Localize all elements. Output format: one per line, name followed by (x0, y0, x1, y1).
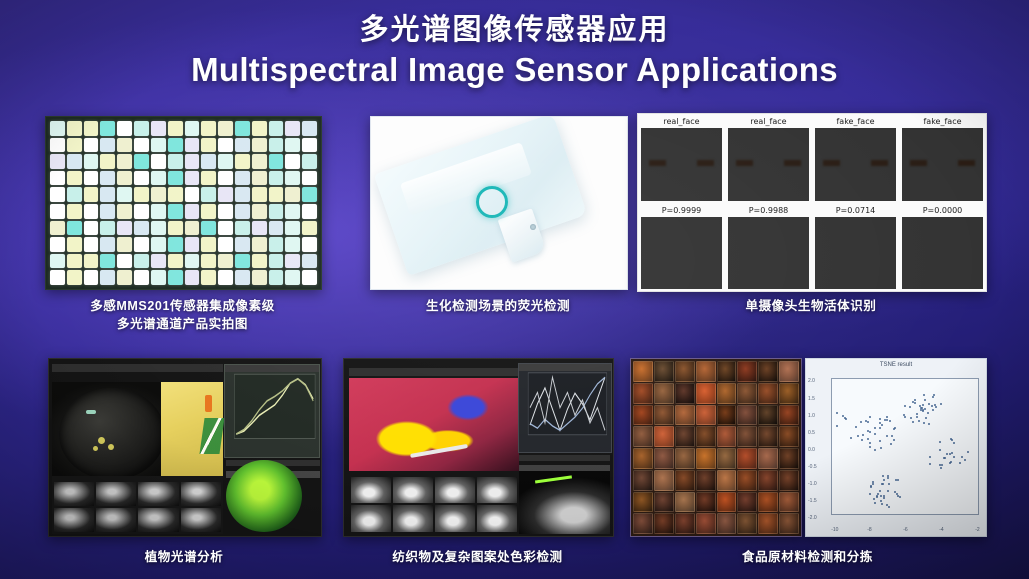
filter-cell (134, 171, 149, 186)
y-axis-tick: 0.5 (808, 430, 815, 436)
scatter-point (882, 475, 884, 477)
caption-line-1: 生化检测场景的荧光检测 (370, 297, 626, 315)
filter-cell (235, 254, 250, 269)
spectrograph-chart-textile (518, 363, 611, 454)
filter-cell (201, 154, 216, 169)
filter-cell (50, 221, 65, 236)
filter-cell (185, 254, 200, 269)
filter-cell (185, 221, 200, 236)
scatter-point (874, 427, 876, 429)
y-axis-tick: -1.0 (808, 481, 817, 487)
filter-cell (302, 138, 317, 153)
x-axis-tick: -2 (975, 527, 979, 533)
food-sample-cell (758, 492, 778, 513)
filter-cell (84, 187, 99, 202)
sample-dish (59, 388, 165, 479)
filter-cell (218, 187, 233, 202)
filter-cell (168, 270, 183, 285)
filter-cell (100, 121, 115, 136)
scatter-point (932, 409, 934, 411)
caption-line-1: 食品原材料检测和分拣 (630, 548, 985, 566)
food-sample-cell (654, 405, 674, 426)
panel-face-liveness: real_face real_face fake_face fake_face … (637, 113, 987, 292)
band-thumbnail[interactable] (477, 477, 517, 504)
scatter-point (967, 451, 969, 453)
food-sample-cell (717, 383, 737, 404)
spectrograph-chart-plant (224, 364, 320, 458)
caption-line-1: 多感MMS201传感器集成像素级 (45, 297, 320, 315)
scatter-point (950, 461, 952, 463)
food-sample-cell (633, 383, 653, 404)
filter-cell (84, 237, 99, 252)
seed (93, 446, 98, 451)
filter-cell (151, 121, 166, 136)
scatter-point (886, 504, 888, 506)
scatter-point (865, 420, 867, 422)
filter-cell (285, 187, 300, 202)
filter-cell (67, 254, 82, 269)
filter-cell (285, 254, 300, 269)
filter-cell (151, 270, 166, 285)
food-sample-cell (717, 361, 737, 382)
food-sample-cell (654, 448, 674, 469)
spectrograph-svg (225, 365, 319, 457)
filter-cell (84, 204, 99, 219)
scatter-point (869, 416, 871, 418)
food-sample-cell (675, 405, 695, 426)
filter-cell (252, 221, 267, 236)
scatter-point (914, 399, 916, 401)
toolbar[interactable] (52, 364, 223, 372)
food-sample-cell (779, 426, 799, 447)
filter-cell (218, 204, 233, 219)
filter-cell (117, 121, 132, 136)
scatter-point (924, 408, 926, 410)
filter-cell (201, 121, 216, 136)
scatter-point (879, 418, 881, 420)
filter-cell (134, 121, 149, 136)
scatter-point (939, 449, 941, 451)
filter-cell (100, 254, 115, 269)
filter-cell (235, 121, 250, 136)
band-thumbnail-strip (349, 471, 518, 535)
band-thumbnail[interactable] (54, 508, 94, 532)
filter-cell (235, 237, 250, 252)
filter-cell (269, 154, 284, 169)
filter-cell (302, 221, 317, 236)
probability-label: P=0.9988 (749, 205, 789, 217)
scatter-point (880, 500, 882, 502)
band-thumbnail[interactable] (393, 505, 433, 532)
panel-filter-array (45, 116, 322, 290)
filter-cell (201, 270, 216, 285)
band-thumbnail[interactable] (138, 508, 178, 532)
scatter-point (944, 457, 946, 459)
filter-cell (235, 221, 250, 236)
band-thumbnail[interactable] (181, 508, 221, 532)
filter-cell (252, 237, 267, 252)
heatmap-cell: P=0.9988 (725, 203, 812, 292)
food-sample-cell (633, 513, 653, 534)
band-thumbnail[interactable] (351, 477, 391, 504)
filter-cell (302, 270, 317, 285)
scatter-point (939, 441, 941, 443)
face-label: fake_face (923, 116, 961, 128)
scatter-point (910, 417, 912, 419)
scatter-point (897, 479, 899, 481)
scatter-point (883, 479, 885, 481)
filter-array-grid (50, 121, 317, 285)
x-axis-tick: -8 (867, 527, 871, 533)
filter-cell (134, 254, 149, 269)
filter-cell (235, 187, 250, 202)
filter-cell (185, 270, 200, 285)
page-title-en: Multispectral Image Sensor Applications (0, 50, 1029, 90)
filter-cell (67, 270, 82, 285)
food-sample-cell (779, 470, 799, 491)
filter-cell (168, 138, 183, 153)
toolbar[interactable] (349, 368, 518, 376)
filter-cell (218, 171, 233, 186)
fluorescence-marker-icon (476, 186, 508, 218)
food-sample-cell (696, 383, 716, 404)
y-axis-tick: 0.0 (808, 447, 815, 453)
y-axis-tick: -0.5 (808, 464, 817, 470)
scatter-point (914, 402, 916, 404)
food-sample-cell (737, 426, 757, 447)
spectrograph-plot (519, 364, 610, 453)
filter-cell (235, 270, 250, 285)
scatter-point (886, 435, 888, 437)
scatter-point (869, 446, 871, 448)
filter-cell (185, 138, 200, 153)
filter-cell (67, 121, 82, 136)
filter-cell (50, 237, 65, 252)
scatter-point (929, 456, 931, 458)
food-sample-cell (633, 492, 653, 513)
face-row-heatmap: P=0.9999 P=0.9988 P=0.0714 P=0.0000 (638, 203, 986, 292)
face-label: real_face (663, 116, 699, 128)
y-axis-tick: -1.5 (808, 498, 817, 504)
food-sample-cell (696, 361, 716, 382)
band-thumbnail[interactable] (96, 508, 136, 532)
scatter-point (935, 406, 937, 408)
filter-cell (50, 204, 65, 219)
food-sample-cell (737, 513, 757, 534)
scatter-point (899, 496, 901, 498)
panel-food-scatter: TSNE result -10-8-6-4-2-2.0-1.5-1.0-0.50… (805, 358, 987, 537)
filter-cell (218, 254, 233, 269)
food-sample-cell (654, 513, 674, 534)
filter-cell (134, 204, 149, 219)
food-sample-cell (779, 361, 799, 382)
food-sample-cell (675, 383, 695, 404)
filter-cell (117, 237, 132, 252)
filter-cell (117, 154, 132, 169)
filter-cell (285, 270, 300, 285)
scatter-point (862, 434, 864, 436)
band-thumbnail[interactable] (435, 477, 475, 504)
food-sample-cell (675, 513, 695, 534)
scatter-point (924, 399, 926, 401)
filter-cell (252, 187, 267, 202)
filter-cell (84, 270, 99, 285)
scatter-point (889, 420, 891, 422)
heatmap-cell: P=0.0000 (899, 203, 986, 292)
scatter-point (920, 409, 922, 411)
filter-cell (151, 154, 166, 169)
filter-cell (252, 254, 267, 269)
food-sample-cell (779, 448, 799, 469)
band-thumbnail[interactable] (54, 482, 94, 506)
filter-cell (84, 154, 99, 169)
eye-band (823, 160, 888, 167)
filter-cell (185, 154, 200, 169)
face-label: fake_face (836, 116, 874, 128)
food-sample-cell (758, 405, 778, 426)
scatter-point (951, 452, 953, 454)
caption-line-1: 单摄像头生物活体识别 (637, 297, 985, 315)
filter-cell (168, 171, 183, 186)
band-thumbnail[interactable] (138, 482, 178, 506)
face-image (902, 128, 983, 201)
filter-cell (302, 121, 317, 136)
face-cell: real_face (638, 114, 725, 203)
filter-cell (168, 121, 183, 136)
face-row-original: real_face real_face fake_face fake_face (638, 114, 986, 203)
scatter-point (912, 421, 914, 423)
face-cell: real_face (725, 114, 812, 203)
filter-cell (269, 204, 284, 219)
filter-cell (67, 154, 82, 169)
probability-label: P=0.0714 (836, 205, 876, 217)
food-sample-cell (654, 492, 674, 513)
scatter-point (869, 493, 871, 495)
filter-cell (269, 138, 284, 153)
scatter-point (888, 483, 890, 485)
face-cell: fake_face (812, 114, 899, 203)
heatmap-image (815, 217, 896, 290)
filter-cell (235, 171, 250, 186)
food-sample-cell (633, 448, 653, 469)
caption-filter-array: 多感MMS201传感器集成像素级 多光谱通道产品实拍图 (45, 297, 320, 333)
filter-cell (201, 221, 216, 236)
scatter-point (887, 477, 889, 479)
food-sample-cell (717, 448, 737, 469)
filter-cell (302, 171, 317, 186)
food-sample-cell (654, 470, 674, 491)
food-sample-cell (696, 470, 716, 491)
filter-cell (285, 171, 300, 186)
heatmap-image (902, 217, 983, 290)
scatter-title: TSNE result (806, 362, 986, 368)
food-sample-cell (779, 513, 799, 534)
scatter-point (850, 437, 852, 439)
band-thumbnail[interactable] (351, 505, 391, 532)
food-sample-cell (633, 405, 653, 426)
filter-cell (201, 204, 216, 219)
filter-cell (151, 138, 166, 153)
probability-label: P=0.0000 (923, 205, 963, 217)
filter-cell (100, 270, 115, 285)
filter-cell (185, 204, 200, 219)
filter-cell (117, 254, 132, 269)
scatter-point (961, 456, 963, 458)
filter-cell (84, 221, 99, 236)
caption-fluorescence: 生化检测场景的荧光检测 (370, 297, 626, 315)
band-thumbnail[interactable] (181, 482, 221, 506)
food-sample-cell (717, 513, 737, 534)
scatter-point (959, 462, 961, 464)
textile-sample-image (349, 378, 518, 475)
slide-root: 多光谱图像传感器应用 Multispectral Image Sensor Ap… (0, 0, 1029, 579)
filter-cell (100, 138, 115, 153)
scatter-point (904, 405, 906, 407)
food-sample-cell (758, 470, 778, 491)
food-sample-cell (696, 492, 716, 513)
scatter-point (953, 442, 955, 444)
filter-cell (285, 237, 300, 252)
heatmap-cell: P=0.9999 (638, 203, 725, 292)
filter-cell (168, 204, 183, 219)
filter-cell (117, 171, 132, 186)
scatter-point (946, 453, 948, 455)
wrapper-object (161, 382, 223, 488)
filter-cell (100, 237, 115, 252)
scatter-point (883, 497, 885, 499)
face-image (815, 128, 896, 201)
filter-cell (134, 237, 149, 252)
caption-line-2: 多光谱通道产品实拍图 (45, 315, 320, 333)
scatter-point (933, 394, 935, 396)
scatter-point (922, 410, 924, 412)
filter-cell (185, 237, 200, 252)
panel-plant-spectral (48, 358, 322, 537)
scatter-point (928, 403, 930, 405)
filter-cell (302, 237, 317, 252)
filter-cell (100, 204, 115, 219)
scatter-point (888, 506, 890, 508)
filter-cell (117, 204, 132, 219)
seed (108, 444, 114, 450)
filter-cell (134, 138, 149, 153)
filter-cell (67, 204, 82, 219)
filter-cell (117, 270, 132, 285)
filter-cell (252, 138, 267, 153)
band-thumbnail[interactable] (393, 477, 433, 504)
food-sample-cell (633, 426, 653, 447)
panel-fluorescence (370, 116, 628, 290)
filter-cell (168, 187, 183, 202)
scatter-point (874, 433, 876, 435)
band-thumbnail[interactable] (477, 505, 517, 532)
filter-cell (117, 221, 132, 236)
scatter-point (923, 422, 925, 424)
scatter-point (880, 495, 882, 497)
probability-label: P=0.9999 (662, 205, 702, 217)
scatter-point (927, 412, 929, 414)
filter-cell (151, 221, 166, 236)
filter-cell (185, 121, 200, 136)
food-sample-cell (779, 492, 799, 513)
scatter-point (876, 496, 878, 498)
filter-cell (151, 187, 166, 202)
food-sample-cell (758, 383, 778, 404)
filter-cell (67, 221, 82, 236)
filter-cell (151, 171, 166, 186)
food-sample-cell (737, 470, 757, 491)
x-axis-tick: -4 (939, 527, 943, 533)
filter-cell (50, 121, 65, 136)
filter-cell (269, 187, 284, 202)
filter-cell (84, 254, 99, 269)
filter-cell (134, 154, 149, 169)
filter-cell (252, 121, 267, 136)
filter-cell (269, 221, 284, 236)
filter-cell (50, 187, 65, 202)
filter-cell (67, 171, 82, 186)
scatter-point (891, 435, 893, 437)
scatter-point (964, 459, 966, 461)
food-sample-cell (758, 426, 778, 447)
scatter-point (881, 503, 883, 505)
scatter-point (886, 419, 888, 421)
scatter-point (941, 464, 943, 466)
filter-cell (269, 270, 284, 285)
scatter-point (879, 490, 881, 492)
scatter-point (940, 403, 942, 405)
scatter-point (881, 424, 883, 426)
filter-cell (185, 171, 200, 186)
food-sample-cell (779, 405, 799, 426)
logo-badge (205, 395, 212, 412)
highlight-streak (535, 476, 572, 484)
scatter-point (920, 407, 922, 409)
reference-rod (410, 444, 467, 458)
scatter-point (836, 425, 838, 427)
scatter-point (916, 416, 918, 418)
filter-cell (100, 171, 115, 186)
food-sample-cell (779, 383, 799, 404)
scatter-point (909, 406, 911, 408)
filter-cell (50, 254, 65, 269)
scatter-point (940, 467, 942, 469)
band-thumbnail[interactable] (96, 482, 136, 506)
food-sample-cell (675, 426, 695, 447)
band-thumbnail-strip (52, 476, 223, 534)
filter-cell (285, 154, 300, 169)
scatter-point (928, 423, 930, 425)
scatter-point (895, 479, 897, 481)
food-sample-cell (737, 383, 757, 404)
panel-food-grid (630, 358, 802, 537)
seed (86, 410, 96, 414)
filter-cell (100, 154, 115, 169)
eye-band (649, 160, 714, 167)
face-image (728, 128, 809, 201)
filter-cell (67, 237, 82, 252)
scatter-point (872, 481, 874, 483)
y-axis-tick: 1.0 (808, 413, 815, 419)
y-axis-tick: 1.5 (808, 396, 815, 402)
filter-cell (134, 221, 149, 236)
filter-cell (252, 204, 267, 219)
food-sample-cell (696, 426, 716, 447)
scatter-point (874, 502, 876, 504)
scatter-point (870, 486, 872, 488)
scatter-point (855, 426, 857, 428)
band-thumbnail[interactable] (435, 505, 475, 532)
